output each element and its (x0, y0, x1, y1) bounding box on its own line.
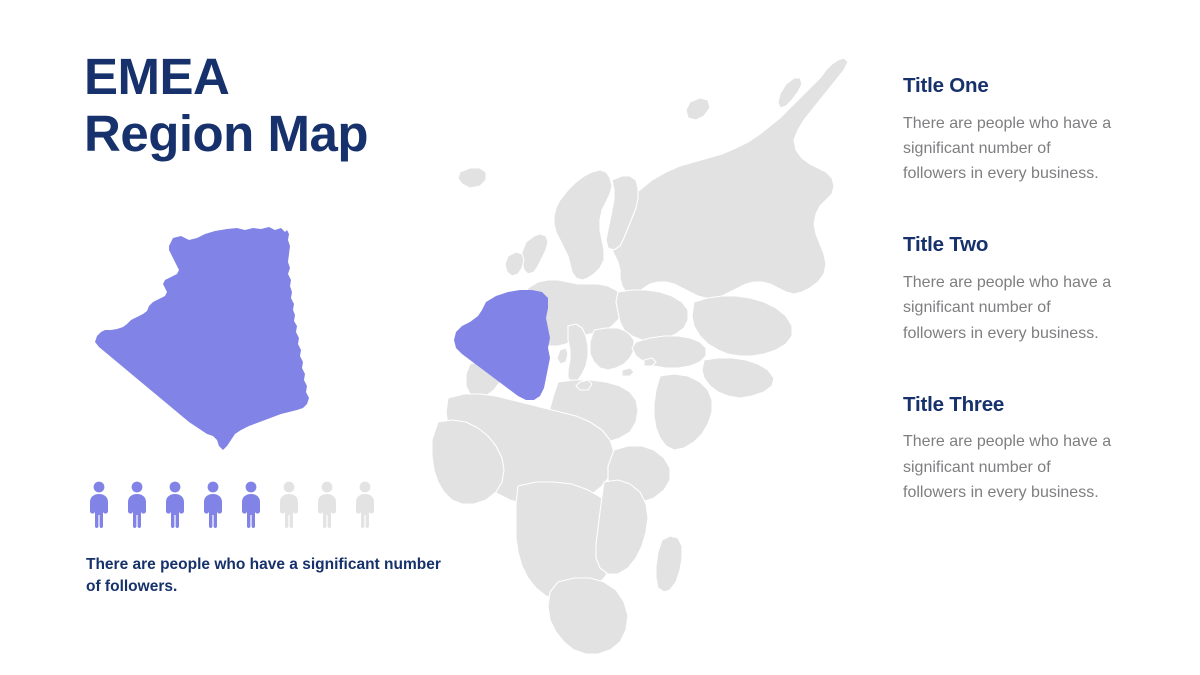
info-block-two-body: There are people who have a significant … (903, 270, 1118, 346)
algeria-shape (85, 214, 330, 464)
info-block-one-title: Title One (903, 74, 1118, 99)
person-icon-6 (276, 481, 302, 528)
info-block-three: Title Three There are people who have a … (903, 393, 1118, 505)
info-block-one: Title One There are people who have a si… (903, 74, 1118, 186)
info-block-one-body: There are people who have a significant … (903, 111, 1118, 187)
person-icon-5 (238, 481, 264, 528)
person-icon-2 (124, 481, 150, 528)
info-block-two-title: Title Two (903, 233, 1118, 258)
person-icon-1 (86, 481, 112, 528)
people-stat-row (86, 481, 406, 531)
person-icon-4 (200, 481, 226, 528)
slide-canvas: EMEA Region Map (0, 0, 1200, 675)
info-blocks-column: Title One There are people who have a si… (903, 74, 1118, 505)
info-block-three-body: There are people who have a significant … (903, 429, 1118, 505)
people-stat-caption: There are people who have a significant … (86, 554, 446, 598)
person-icon-7 (314, 481, 340, 528)
emea-world-map (408, 30, 868, 655)
info-block-two: Title Two There are people who have a si… (903, 233, 1118, 345)
person-icon-3 (162, 481, 188, 528)
info-block-three-title: Title Three (903, 393, 1118, 418)
person-icon-8 (352, 481, 378, 528)
